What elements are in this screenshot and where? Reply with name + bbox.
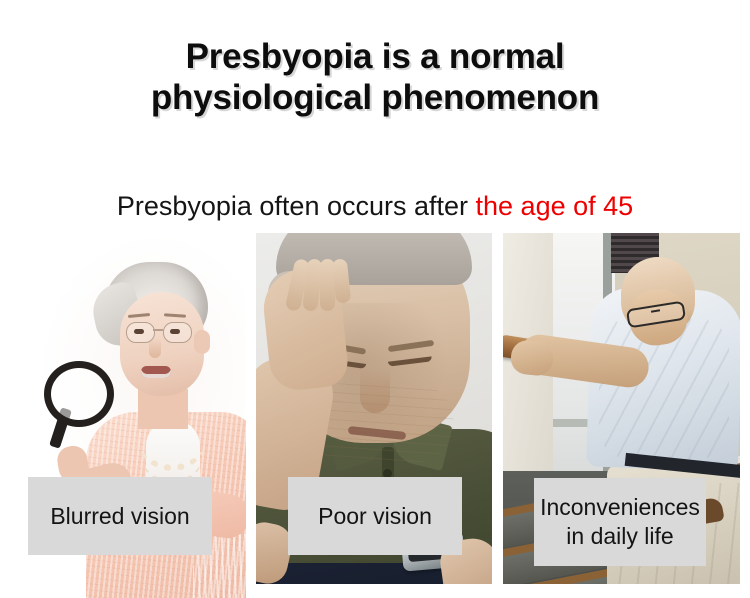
woman-nose (149, 338, 161, 358)
caption-box-poor-vision: Poor vision (288, 477, 462, 555)
woman-face (120, 292, 204, 396)
subtitle-highlight-text: the age of 45 (476, 191, 634, 221)
woman-eye-right (170, 329, 180, 334)
magnifier-lens-icon (44, 361, 114, 427)
caption-text: Inconveniences in daily life (540, 493, 700, 551)
title-line-1: Presbyopia is a normal (0, 36, 750, 77)
woman-eye-left (134, 329, 144, 334)
woman-mouth (141, 366, 171, 378)
caption-box-blurred-vision: Blurred vision (28, 477, 212, 555)
caption-text: Blurred vision (50, 502, 189, 531)
presentation-slide: Presbyopia is a normal physiological phe… (0, 0, 750, 598)
woman-ear (194, 330, 210, 354)
title-line-2: physiological phenomenon (0, 77, 750, 118)
subtitle-lead-text: Presbyopia often occurs after (117, 191, 476, 221)
caption-box-inconveniences: Inconveniences in daily life (534, 478, 706, 566)
caption-text: Poor vision (318, 502, 432, 531)
page-title: Presbyopia is a normal physiological phe… (0, 36, 750, 118)
man-fingers (290, 259, 348, 317)
subtitle: Presbyopia often occurs after the age of… (0, 190, 750, 222)
eyeglass-bridge (153, 329, 163, 331)
